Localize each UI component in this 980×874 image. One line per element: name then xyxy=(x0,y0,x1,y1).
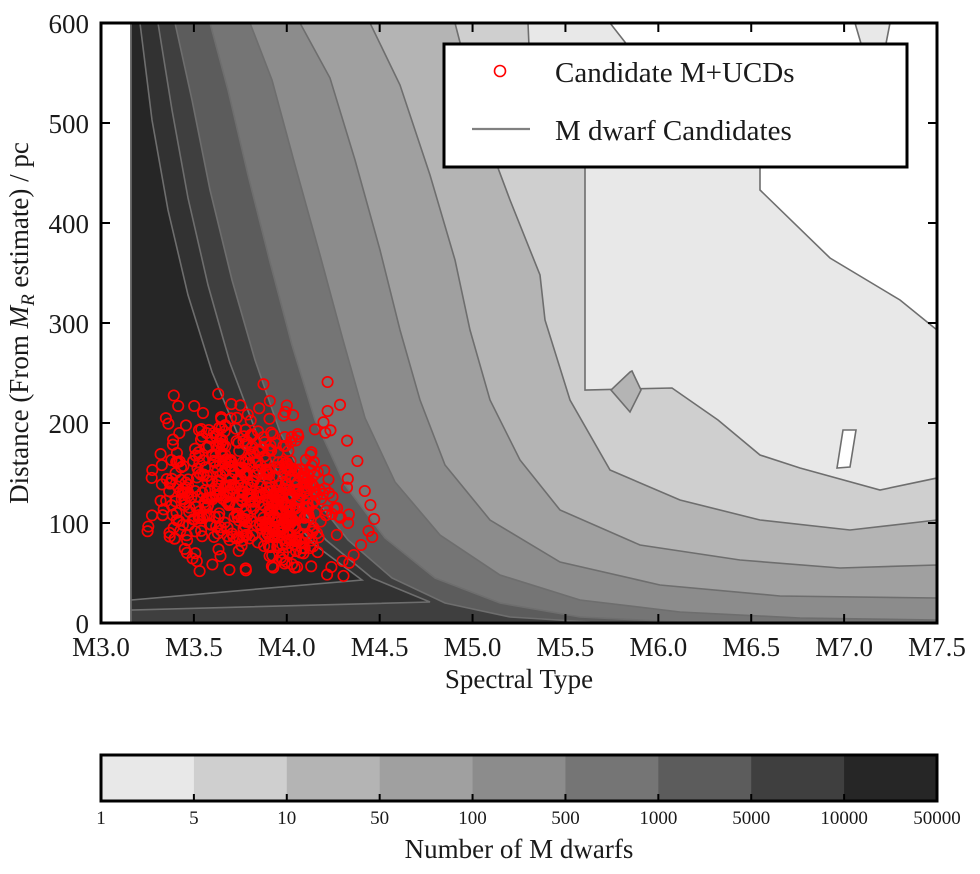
colorbar-tick-label: 5000 xyxy=(732,808,770,829)
y-tick-label: 100 xyxy=(49,509,90,539)
colorbar-band xyxy=(194,755,287,801)
x-tick-label: M6.0 xyxy=(629,632,687,662)
x-tick-label: M4.5 xyxy=(351,632,409,662)
colorbar-title: Number of M dwarfs xyxy=(405,834,634,864)
y-tick-label: 0 xyxy=(76,609,90,639)
x-axis-title: Spectral Type xyxy=(445,664,593,694)
y-axis-title-pre: Distance (From xyxy=(4,328,34,503)
plot-svg: M3.0M3.5M4.0M4.5M5.0M5.5M6.0M6.5M7.0M7.5… xyxy=(0,0,980,874)
x-tick-label: M7.5 xyxy=(908,632,966,662)
y-axis-title-post: estimate) / pc xyxy=(4,142,34,294)
colorbar-band xyxy=(565,755,658,801)
colorbar-bands xyxy=(101,755,938,801)
colorbar-band xyxy=(101,755,194,801)
colorbar-band xyxy=(844,755,937,801)
svg-text:Distance (From MR estimate) /: Distance (From MR estimate) / pc xyxy=(4,142,39,504)
colorbar-tick-label: 100 xyxy=(458,808,487,829)
colorbar-tick-label: 10000 xyxy=(820,808,868,829)
colorbar-band xyxy=(658,755,751,801)
colorbar-tick-label: 50 xyxy=(370,808,389,829)
colorbar-band xyxy=(473,755,566,801)
legend-label-1: M dwarf Candidates xyxy=(555,115,792,147)
y-tick-label: 200 xyxy=(49,409,90,439)
colorbar-band xyxy=(751,755,844,801)
colorbar-tick-label: 1000 xyxy=(639,808,677,829)
y-axis-title-italic: M xyxy=(4,304,34,329)
x-tick-label: M4.0 xyxy=(258,632,316,662)
colorbar-tick-label: 5 xyxy=(189,808,199,829)
legend[interactable]: Candidate M+UCDs M dwarf Candidates xyxy=(444,44,907,167)
y-axis-title-sub: R xyxy=(18,294,39,307)
colorbar-tick-label: 10 xyxy=(277,808,296,829)
main-axes: M3.0M3.5M4.0M4.5M5.0M5.5M6.0M6.5M7.0M7.5… xyxy=(4,9,966,694)
colorbar-tick-label: 1 xyxy=(96,808,106,829)
x-tick-label: M6.5 xyxy=(722,632,780,662)
colorbar-band xyxy=(380,755,473,801)
x-tick-label: M3.5 xyxy=(165,632,223,662)
x-tick-label: M5.0 xyxy=(444,632,502,662)
colorbar-tick-label: 500 xyxy=(551,808,580,829)
colorbar-band xyxy=(287,755,380,801)
figure-container: M3.0M3.5M4.0M4.5M5.0M5.5M6.0M6.5M7.0M7.5… xyxy=(0,0,980,874)
x-tick-label: M5.5 xyxy=(537,632,595,662)
y-axis-title: Distance (From MR estimate) / pc xyxy=(4,142,39,504)
y-tick-label: 400 xyxy=(49,209,90,239)
x-tick-label: M7.0 xyxy=(815,632,873,662)
colorbar-tick-label: 50000 xyxy=(913,808,961,829)
y-tick-label: 300 xyxy=(49,309,90,339)
y-tick-label: 600 xyxy=(49,9,90,39)
y-tick-label: 500 xyxy=(49,109,90,139)
legend-label-0: Candidate M+UCDs xyxy=(555,57,794,89)
